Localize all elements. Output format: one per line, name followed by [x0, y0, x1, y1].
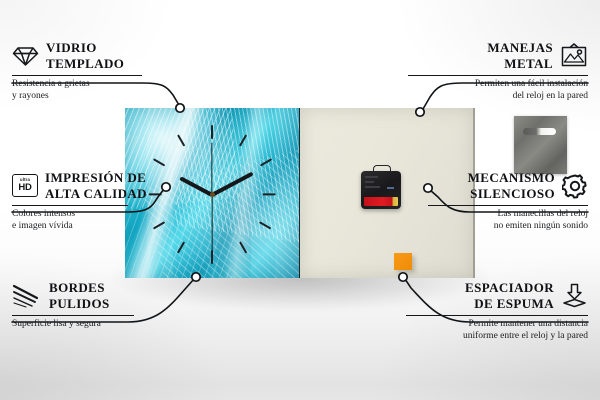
feature-desc-line1: Colores intensos [12, 209, 152, 221]
mechanism-detail [365, 186, 380, 188]
feature-desc-line2: no emiten ningún sonido [428, 221, 588, 233]
feature-rule [12, 75, 142, 76]
ultra-hd-icon: ultra HD [12, 174, 38, 197]
feature-title-line1: VIDRIO [46, 40, 124, 56]
polished-edges-icon [12, 284, 42, 308]
feature-high-quality-print[interactable]: ultra HD IMPRESIÓN DE ALTA CALIDAD Color… [12, 170, 152, 232]
infographic-canvas: VIDRIO TEMPLADO Resistencia a grietas y … [0, 0, 600, 400]
glass-glare [165, 108, 300, 278]
product-image [125, 108, 475, 278]
clock-tick [239, 134, 247, 146]
feature-desc-line1: Superficie lisa y segura [12, 319, 152, 331]
clock-tick [153, 221, 165, 229]
feature-heading: MANEJAS METAL [408, 40, 588, 71]
feature-desc-line2: uniforme entre el reloj y la pared [406, 331, 588, 343]
feature-metal-hangers[interactable]: MANEJAS METAL Permiten una fácil instala… [408, 40, 588, 102]
minute-hand [211, 172, 253, 197]
down-arrow-pad-icon [561, 283, 588, 309]
gear-icon [562, 173, 588, 199]
feature-title-line2: METAL [487, 56, 553, 72]
feature-rule [12, 315, 134, 316]
hour-hand [179, 176, 213, 196]
clock-tick [211, 125, 213, 139]
ultra-hd-icon-large-label: HD [18, 183, 31, 193]
mechanism-hook [373, 165, 391, 173]
feature-heading: MECANISMO SILENCIOSO [428, 170, 588, 201]
second-hand [211, 195, 212, 253]
quartz-mechanism [361, 171, 401, 209]
feature-desc-line1: Permiten una fácil instalación [408, 79, 588, 91]
feature-foam-spacer[interactable]: ESPACIADOR DE ESPUMA Permite mantener un… [406, 280, 588, 342]
print-band [275, 108, 300, 278]
feature-title-line1: ESPACIADOR [465, 280, 554, 296]
feature-rule [12, 205, 128, 206]
feature-rule [408, 75, 588, 76]
feature-title-line1: MECANISMO [468, 170, 555, 186]
feature-title-line2: DE ESPUMA [465, 296, 554, 312]
feature-desc-line1: Resistencia a grietas [12, 79, 147, 91]
feature-heading: BORDES PULIDOS [12, 280, 152, 311]
feature-heading: VIDRIO TEMPLADO [12, 40, 147, 71]
feature-desc-line2: del reloj en la pared [408, 91, 588, 103]
feather-texture [142, 147, 300, 278]
foam-spacer [394, 253, 412, 270]
clock-pivot [210, 192, 215, 197]
mechanism-detail [365, 176, 378, 178]
feature-title-line1: MANEJAS [487, 40, 553, 56]
clock-tick [177, 241, 185, 253]
clock-tick [239, 241, 247, 253]
feature-desc-line1: Las manecillas del reloj [428, 209, 588, 221]
feature-title-line1: BORDES [49, 280, 110, 296]
diamond-icon [12, 44, 39, 67]
feature-title-line2: PULIDOS [49, 296, 110, 312]
clock-tick [259, 221, 271, 229]
feature-desc-line2: y rayones [12, 91, 147, 103]
hanger-slot [523, 128, 556, 135]
clock-tick [177, 134, 185, 146]
feature-desc-line1: Permite mantener una distancia [406, 319, 588, 331]
clock-tick [260, 158, 272, 166]
feature-tempered-glass[interactable]: VIDRIO TEMPLADO Resistencia a grietas y … [12, 40, 147, 102]
feature-title-line2: SILENCIOSO [468, 186, 555, 202]
feature-title-line2: ALTA CALIDAD [45, 186, 147, 202]
feature-silent-mechanism[interactable]: MECANISMO SILENCIOSO Las manecillas del … [428, 170, 588, 232]
feature-title-line2: TEMPLADO [46, 56, 124, 72]
mechanism-detail [365, 181, 374, 183]
metal-hanger [514, 116, 567, 174]
feature-rule [406, 315, 588, 316]
clock-tick [153, 158, 165, 166]
feature-desc-line2: e imagen vívida [12, 221, 152, 233]
feature-rule [428, 205, 588, 206]
feature-polished-edges[interactable]: BORDES PULIDOS Superficie lisa y segura [12, 280, 152, 331]
second-hand-tail [211, 143, 212, 195]
feature-heading: ESPACIADOR DE ESPUMA [406, 280, 588, 311]
feather-texture [173, 108, 300, 246]
feature-heading: ultra HD IMPRESIÓN DE ALTA CALIDAD [12, 170, 152, 201]
mechanism-detail [387, 187, 394, 189]
clock-tick [263, 193, 276, 195]
picture-frame-hanger-icon [560, 43, 588, 68]
battery [364, 197, 398, 206]
feature-title-line1: IMPRESIÓN DE [45, 170, 147, 186]
